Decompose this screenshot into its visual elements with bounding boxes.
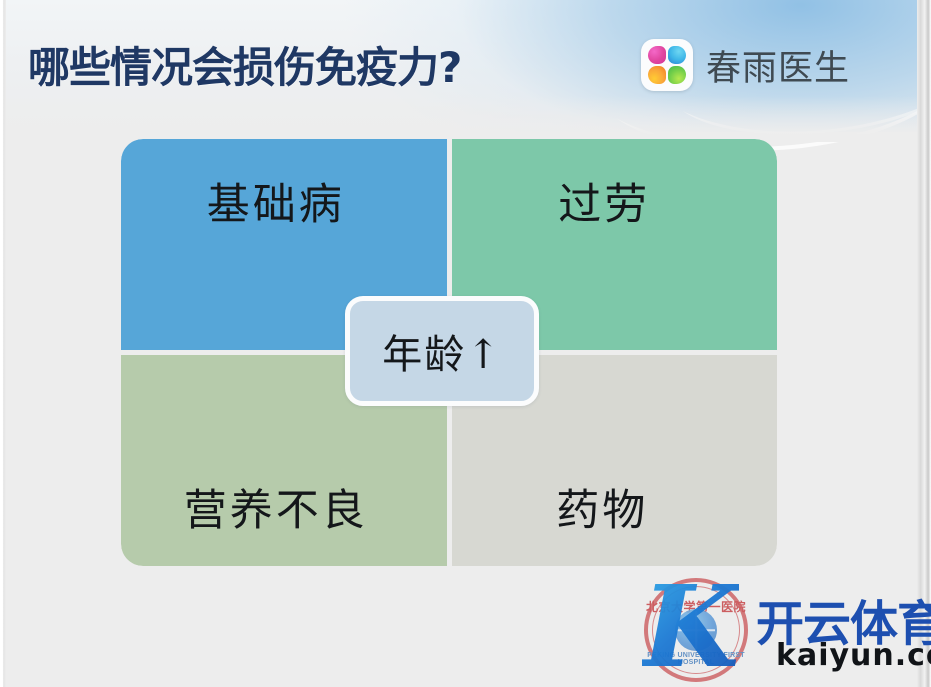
quadrant-label: 过劳 — [558, 170, 650, 232]
page-title: 哪些情况会损伤免疫力? — [28, 34, 461, 95]
petal-top-left-icon — [648, 46, 666, 64]
stamp-english-text: PEKING UNIVERSITY FIRST HOSPITAL — [644, 652, 748, 666]
quadrant-label: 基础病 — [207, 170, 345, 232]
brand-logo: 春雨医生 — [641, 39, 850, 91]
brand-name: 春雨医生 — [706, 40, 850, 91]
stamp-globe-icon — [675, 609, 717, 651]
kaiyun-monogram-icon: K — [642, 572, 739, 684]
header-fade-decoration — [0, 96, 931, 142]
center-badge-label: 年龄↑ — [382, 322, 502, 380]
chunyu-four-petal-logo-icon — [641, 39, 693, 91]
page-right-edge-scrollbar[interactable] — [917, 0, 931, 687]
stamp-outer-ring-icon — [644, 578, 748, 682]
petal-bottom-right-icon — [668, 66, 686, 84]
petal-top-right-icon — [668, 46, 686, 64]
kaiyun-chinese-name: 开云体育 — [756, 584, 931, 654]
kaiyun-url-text: kaiyun.com — [776, 638, 931, 673]
stamp-inner-ring-icon — [652, 586, 740, 674]
hospital-stamp-watermark: 北京大学第一医院 PEKING UNIVERSITY FIRST HOSPITA… — [644, 578, 748, 682]
slide-canvas: 哪些情况会损伤免疫力? 春雨医生 基础病 过劳 营养不良 药物 年龄↑ — [0, 0, 931, 687]
petal-bottom-left-icon — [648, 66, 666, 84]
quadrant-label: 药物 — [556, 476, 648, 538]
watermark-group: 北京大学第一医院 PEKING UNIVERSITY FIRST HOSPITA… — [628, 566, 924, 684]
quadrant-label: 营养不良 — [184, 476, 368, 538]
page-left-edge — [0, 0, 6, 687]
petal-group — [648, 46, 686, 84]
stamp-chinese-text: 北京大学第一医院 — [644, 598, 748, 615]
center-badge-age: 年龄↑ — [345, 296, 539, 406]
